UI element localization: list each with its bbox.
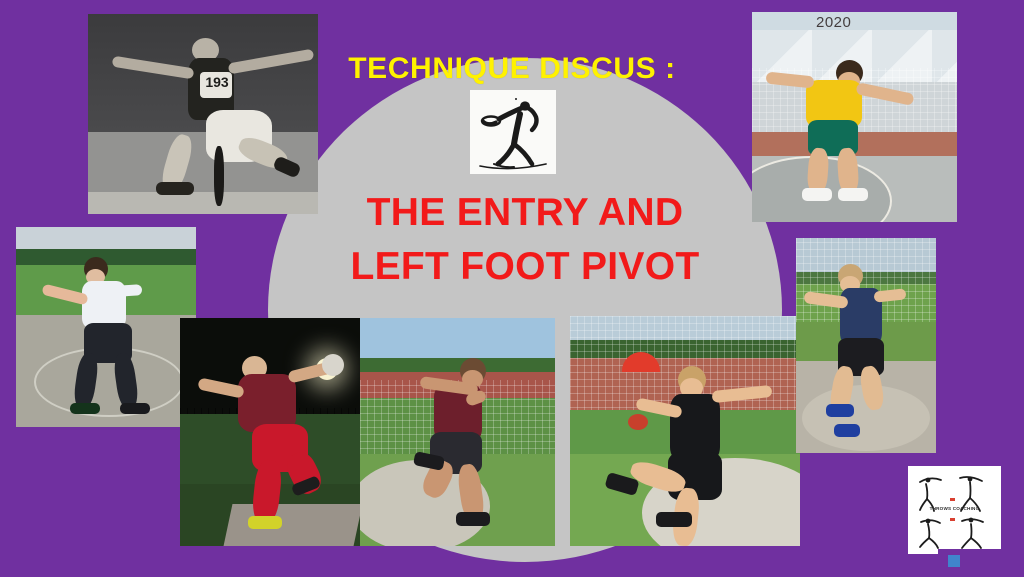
photo-white-shirt-thrower <box>16 227 196 427</box>
page-title: THE ENTRY AND LEFT FOOT PIVOT <box>300 186 750 294</box>
photo-navy-singlet-thrower <box>796 238 936 453</box>
corner-square-icon <box>948 555 960 567</box>
photo-bw-thrower-193: 193 <box>88 14 318 214</box>
photo-maroon-singlet-thrower <box>360 318 555 546</box>
athlete-figure <box>796 238 936 453</box>
photo-yellow-kit-thrower <box>752 12 957 222</box>
throws-coaching-logo: THROWS COACHING <box>908 466 1001 554</box>
corner-overlay <box>938 549 1024 577</box>
athlete-figure <box>570 316 800 546</box>
discus-thrower-ink-sketch-icon <box>470 90 556 174</box>
logo-accent-dot-lower <box>950 518 955 521</box>
page-title-line-2: LEFT FOOT PIVOT <box>300 240 750 294</box>
logo-accent-dot-upper <box>950 498 955 501</box>
athlete-figure <box>88 14 318 214</box>
athlete-figure <box>16 227 196 427</box>
presentation-slide: 193 <box>0 0 1024 577</box>
athlete-figure <box>752 12 957 222</box>
throws-coaching-logo-text: THROWS COACHING <box>908 506 1001 511</box>
slide-heading: TECHNIQUE DISCUS : <box>0 52 1024 86</box>
photo-black-kit-thrower <box>570 316 800 546</box>
date-stamp: 2020 <box>816 14 851 31</box>
photo-red-kit-night-thrower <box>180 318 365 546</box>
athlete-figure <box>360 318 555 546</box>
athlete-figure <box>180 318 365 546</box>
page-title-line-1: THE ENTRY AND <box>367 191 684 234</box>
